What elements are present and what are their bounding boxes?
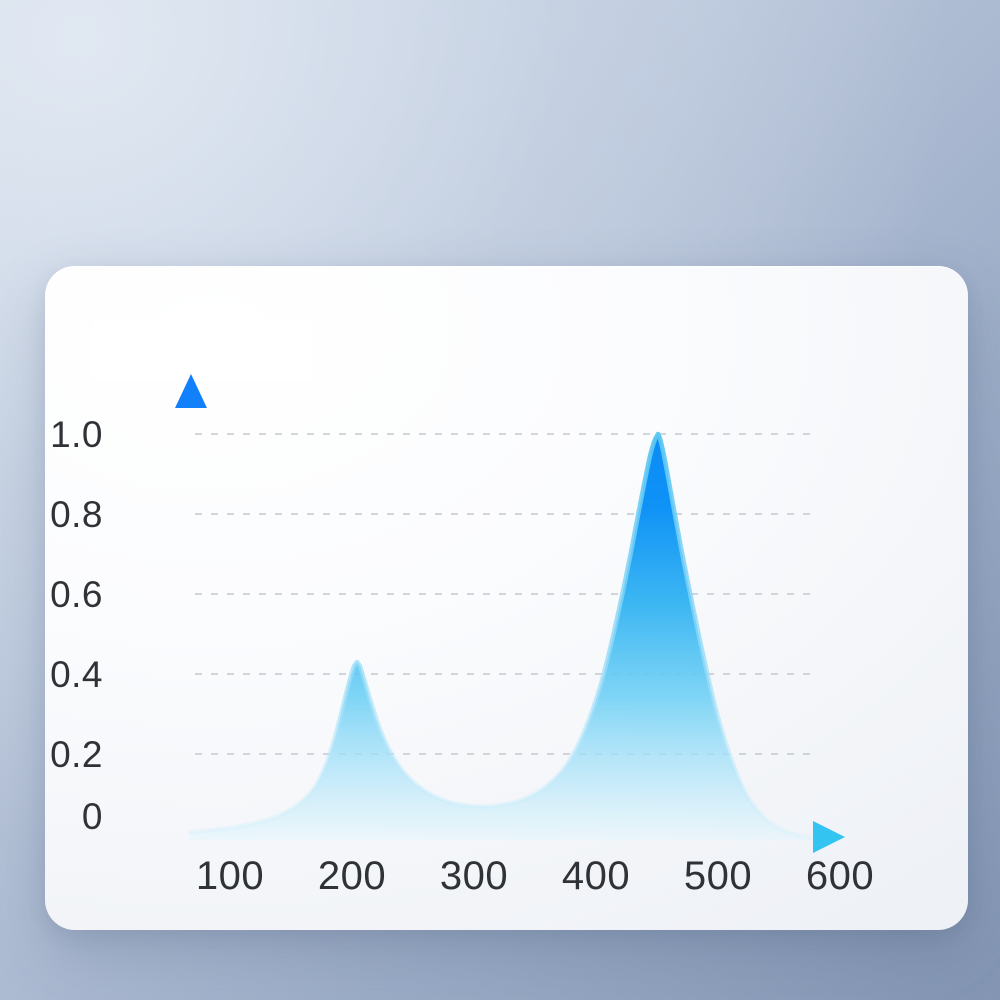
y-tick-label-0.8: 0.8	[7, 494, 103, 536]
right-arrow-icon	[813, 821, 845, 853]
chart-svg	[45, 266, 968, 930]
y-tick-label-0.2: 0.2	[7, 734, 103, 776]
y-axis	[175, 374, 207, 840]
chart-card: 1.0 0.8 0.6 0.4 0.2 0 100 200 300 400 50…	[45, 266, 968, 930]
spectrum-chart: 1.0 0.8 0.6 0.4 0.2 0 100 200 300 400 50…	[45, 266, 968, 930]
y-tick-label-1.0: 1.0	[7, 414, 103, 456]
y-tick-label-0.6: 0.6	[7, 574, 103, 616]
y-tick-label-0.4: 0.4	[7, 654, 103, 696]
gridlines	[195, 434, 817, 754]
spectrum-area-fill	[190, 434, 825, 840]
x-tick-label-600: 600	[765, 854, 915, 899]
y-tick-label-0: 0	[7, 796, 103, 838]
screen: 1.0 0.8 0.6 0.4 0.2 0 100 200 300 400 50…	[0, 0, 1000, 1000]
up-arrow-icon	[175, 374, 207, 408]
